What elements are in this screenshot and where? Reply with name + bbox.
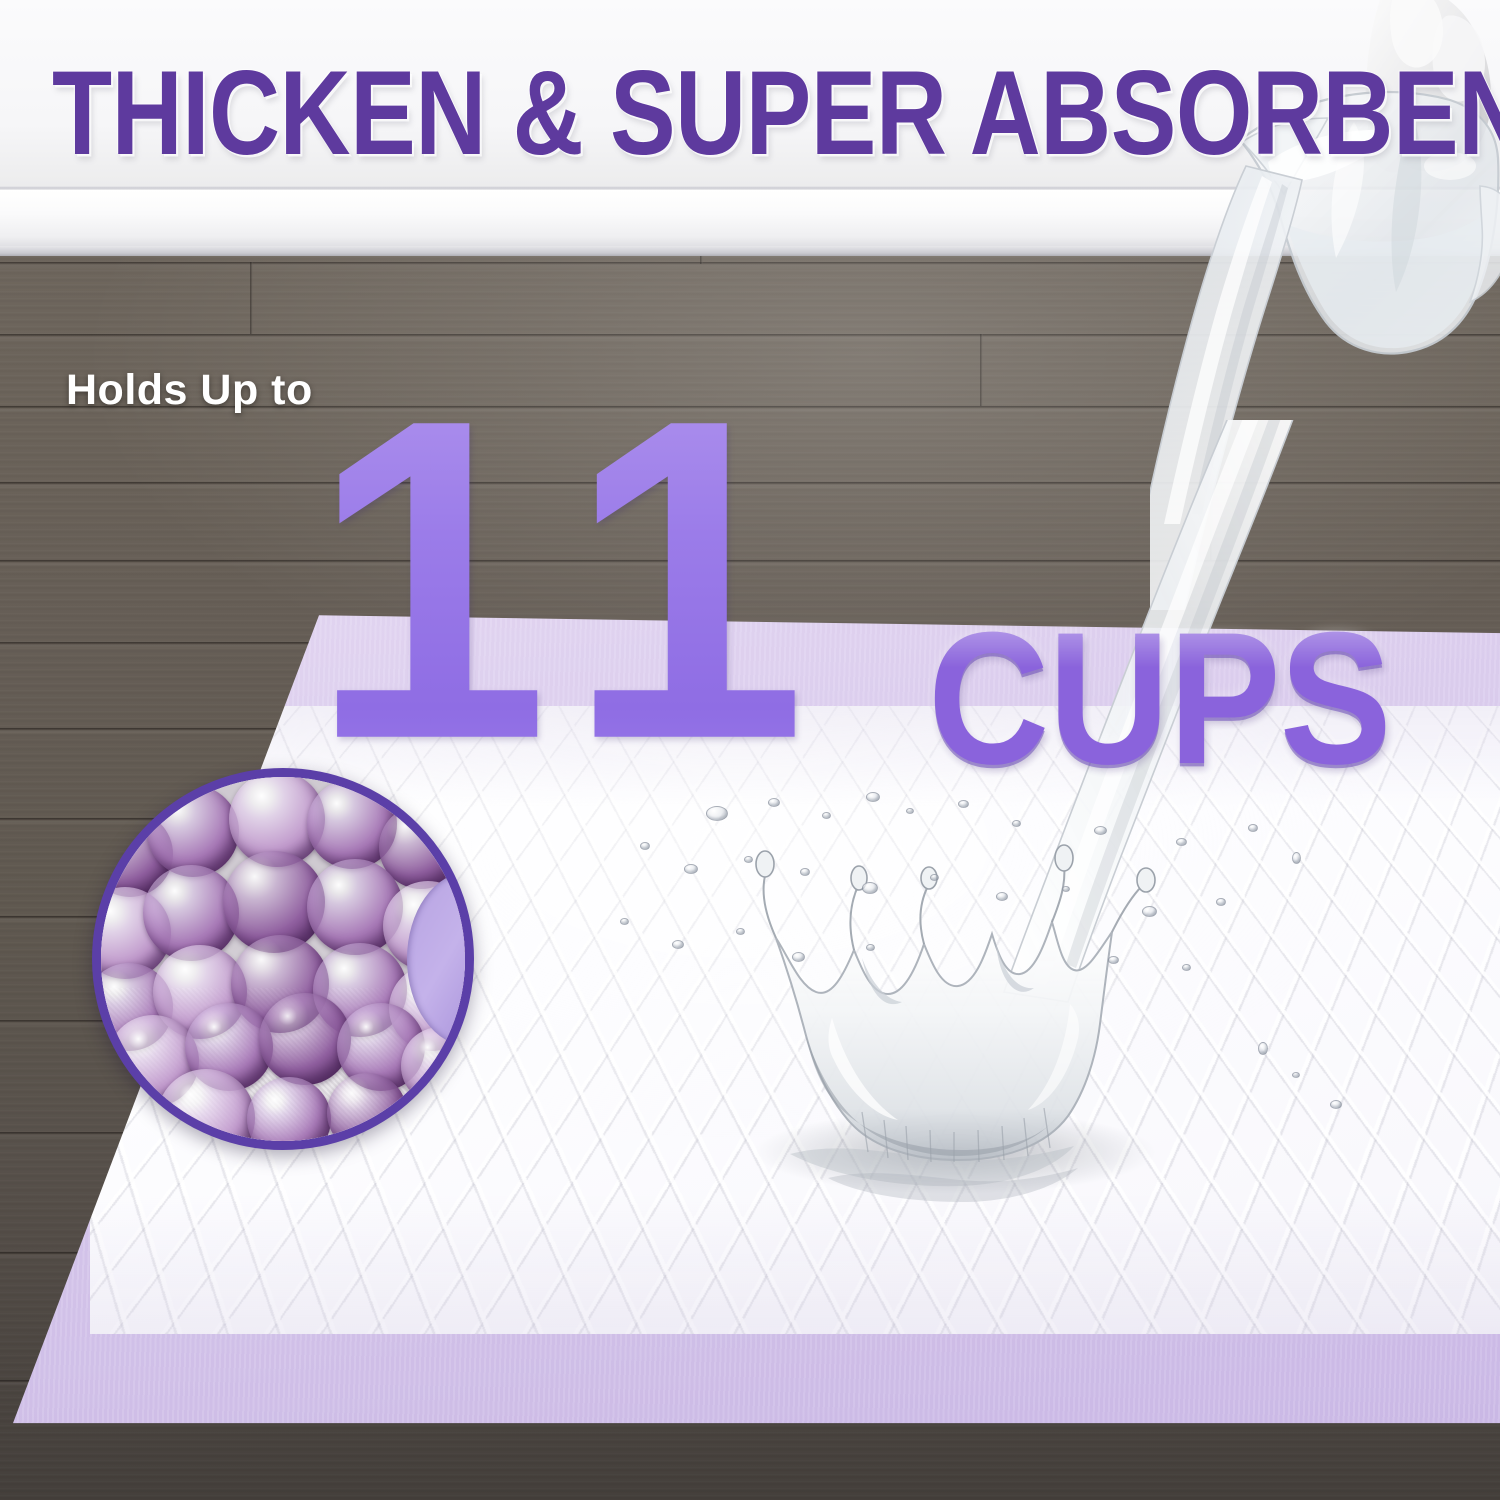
product-feature-image: THICKEN & SUPER ABSORBENT Holds Up to 11… [0, 0, 1500, 1500]
holds-up-to-label: Holds Up to [66, 366, 313, 415]
page-title: THICKEN & SUPER ABSORBENT [52, 54, 1443, 174]
capacity-amount: 11 [310, 352, 849, 808]
capacity-unit-label: CUPS [928, 604, 1391, 792]
